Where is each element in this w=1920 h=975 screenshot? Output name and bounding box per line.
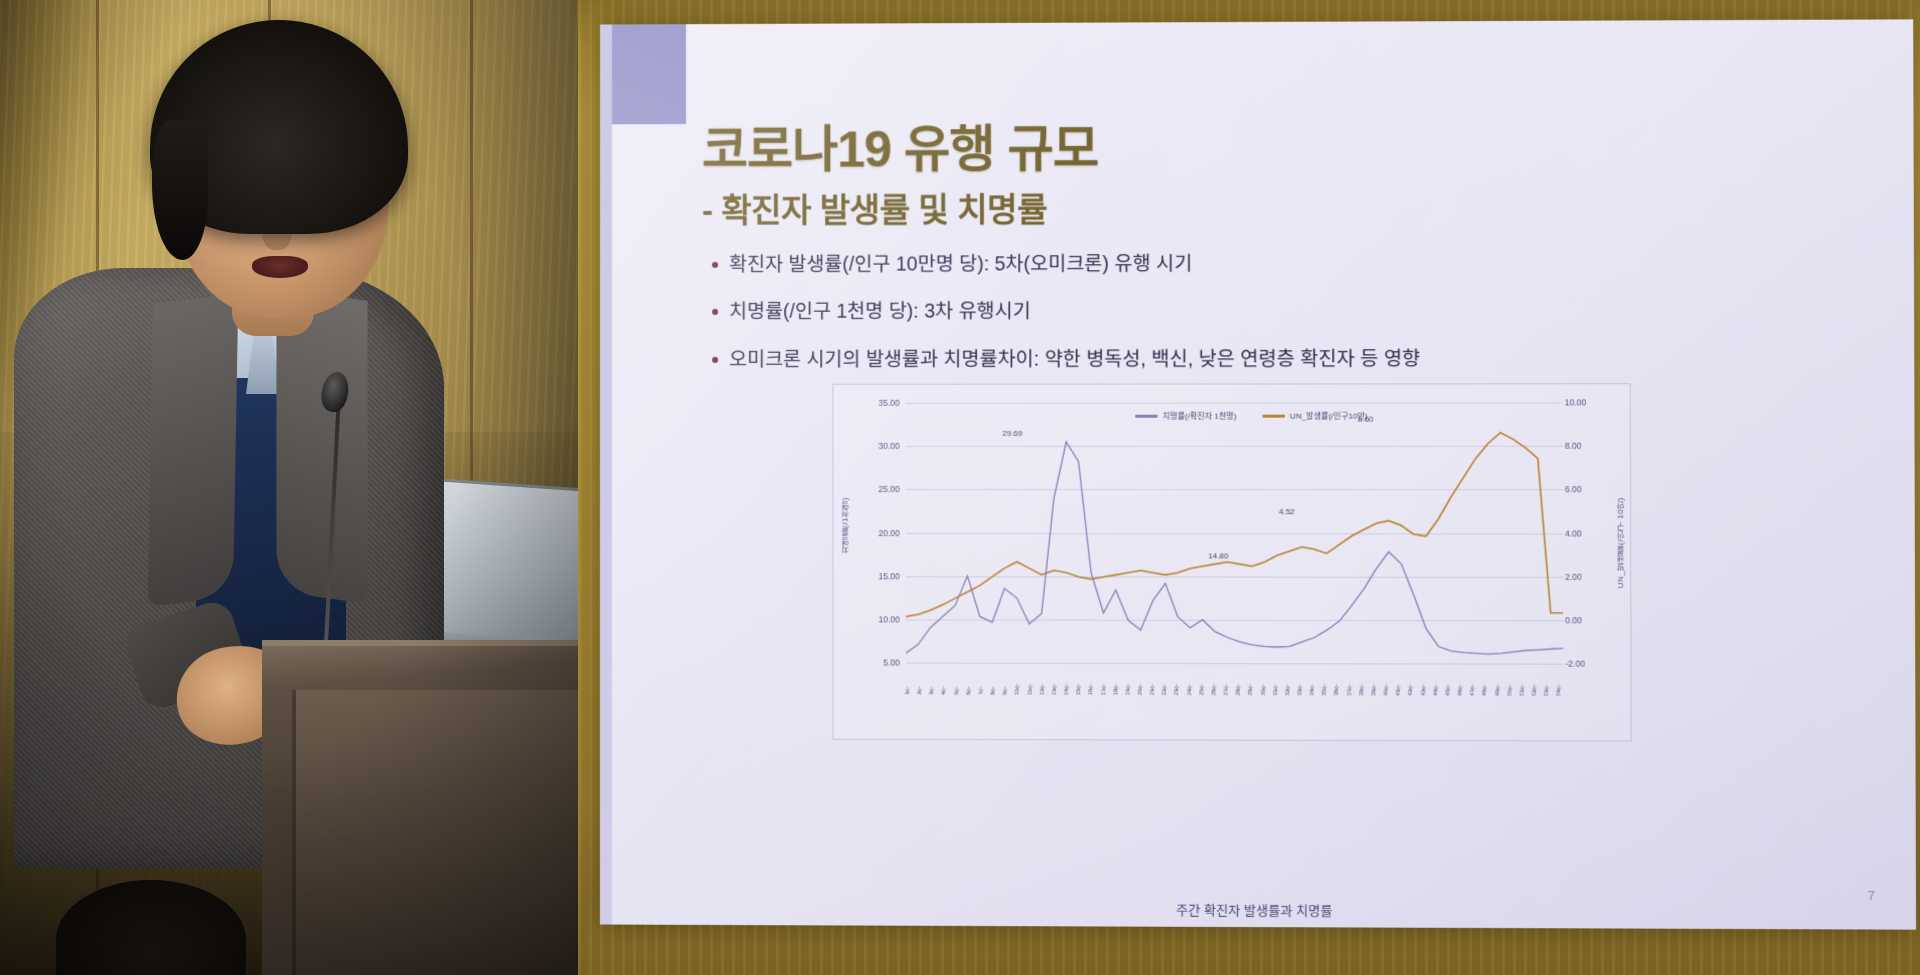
- x-tick-label: 21주: [1151, 659, 1156, 695]
- x-tick-label: 34주: [1311, 659, 1316, 695]
- bullet-dot-icon: [712, 357, 718, 363]
- bullet-item: 확진자 발생률(/인구 10만명 당): 5차(오미크론) 유행 시기: [712, 250, 1885, 279]
- y-tick-label: 25.00: [856, 484, 900, 494]
- x-tick-label: 6주: [967, 659, 972, 695]
- bullet-text: 치명률(/인구 1천명 당): 3차 유행시기: [729, 299, 1031, 326]
- x-tick-label: 28주: [1237, 659, 1242, 695]
- x-tick-label: 5주: [955, 659, 960, 695]
- slide-title: 코로나19 유행 규모: [702, 109, 1098, 182]
- chart-svg: [906, 402, 1564, 661]
- bullet-dot-icon: [712, 262, 718, 268]
- chart-y2-ticks: 10.008.006.004.002.000.00-2.00: [833, 384, 1629, 385]
- x-tick-label: 47주: [1471, 659, 1476, 695]
- bullet-item: 치명률(/인구 1천명 당): 3차 유행시기: [712, 297, 1885, 325]
- x-tick-label: 37주: [1348, 659, 1353, 695]
- y2-tick-label: 4.00: [1565, 528, 1610, 538]
- slide-subtitle: - 확진자 발생률 및 치명률: [702, 183, 1047, 232]
- x-tick-label: 50주: [1508, 660, 1513, 696]
- x-tick-label: 38주: [1360, 659, 1365, 695]
- x-tick-label: 45주: [1446, 659, 1451, 695]
- x-tick-label: 54주: [1557, 660, 1562, 696]
- x-tick-label: 4주: [943, 659, 948, 695]
- x-tick-label: 25주: [1200, 659, 1205, 695]
- chart-caption: 주간 확진자 발생률과 치명률: [600, 897, 1916, 921]
- y2-tick-label: 2.00: [1565, 571, 1610, 581]
- y2-tick-label: 10.00: [1565, 397, 1610, 407]
- x-tick-label: 23주: [1175, 659, 1180, 695]
- chart-y-axis-label: 치명률(/1천명): [839, 497, 850, 554]
- x-tick-label: 39주: [1372, 659, 1377, 695]
- bullet-text: 오미크론 시기의 발생률과 치명률차이: 약한 병독성, 백신, 낮은 연령층 …: [729, 346, 1420, 373]
- x-tick-label: 8주: [992, 659, 997, 695]
- x-tick-label: 27주: [1225, 659, 1230, 695]
- x-tick-label: 3주: [930, 659, 935, 695]
- data-point-label: 4.52: [1279, 507, 1295, 516]
- series-line-fatality: [906, 442, 1564, 655]
- y-tick-label: 30.00: [855, 441, 899, 451]
- x-tick-label: 53주: [1545, 660, 1550, 696]
- slide-left-accent-bar: [600, 24, 612, 924]
- x-tick-label: 13주: [1053, 659, 1058, 695]
- x-tick-label: 10주: [1016, 659, 1021, 695]
- chart-plot-area: [906, 402, 1564, 661]
- x-tick-label: 26주: [1212, 659, 1217, 695]
- screenshot-root: 코로나19 유행 규모 - 확진자 발생률 및 치명률 확진자 발생률(/인구 …: [0, 0, 1920, 975]
- chart-container: 치명률(/1천명) UN_발생률(/인구 10만) 35.0030.0025.0…: [832, 383, 1631, 741]
- x-tick-label: 43주: [1422, 659, 1427, 695]
- y-tick-label: 5.00: [856, 657, 900, 667]
- data-point-label: 29.69: [1002, 429, 1022, 438]
- bullet-dot-icon: [712, 309, 718, 315]
- data-point-label: 14.80: [1208, 551, 1228, 560]
- x-tick-label: 31주: [1274, 659, 1279, 695]
- x-tick-label: 19주: [1126, 659, 1131, 695]
- x-tick-label: 35주: [1323, 659, 1328, 695]
- x-tick-label: 24주: [1188, 659, 1193, 695]
- y-tick-label: 15.00: [856, 571, 900, 581]
- x-tick-label: 14주: [1065, 659, 1070, 695]
- chart-y2-axis-label: UN_발생률(/인구 10만): [1615, 497, 1626, 588]
- x-tick-label: 11주: [1028, 659, 1033, 695]
- x-tick-label: 29주: [1249, 659, 1254, 695]
- x-tick-label: 16주: [1090, 659, 1095, 695]
- slide-bullet-list: 확진자 발생률(/인구 10만명 당): 5차(오미크론) 유행 시기 치명률(…: [712, 250, 1886, 394]
- presenter-photo: [0, 0, 578, 975]
- x-tick-label: 40주: [1385, 659, 1390, 695]
- x-tick-label: 46주: [1459, 659, 1464, 695]
- x-tick-label: 33주: [1298, 659, 1303, 695]
- x-tick-label: 41주: [1397, 659, 1402, 695]
- x-tick-label: 15주: [1077, 659, 1082, 695]
- slide-page-number: 7: [1868, 888, 1875, 903]
- x-tick-label: 1주: [906, 659, 911, 695]
- x-tick-label: 9주: [1004, 659, 1009, 695]
- y-tick-label: 10.00: [856, 614, 900, 624]
- speaker-mouth: [252, 256, 308, 278]
- x-tick-label: 48주: [1483, 660, 1488, 696]
- x-tick-label: 2주: [918, 659, 923, 695]
- x-tick-label: 22주: [1163, 659, 1168, 695]
- x-tick-label: 42주: [1409, 659, 1414, 695]
- slide-accent-block: [612, 20, 686, 124]
- bullet-text: 확진자 발생률(/인구 10만명 당): 5차(오미크론) 유행 시기: [729, 251, 1192, 278]
- x-tick-label: 12주: [1040, 659, 1045, 695]
- y-tick-label: 35.00: [855, 398, 899, 408]
- y2-tick-label: 6.00: [1565, 484, 1610, 494]
- bullet-item: 오미크론 시기의 발생률과 치명률차이: 약한 병독성, 백신, 낮은 연령층 …: [712, 345, 1886, 373]
- x-tick-label: 30주: [1261, 659, 1266, 695]
- x-tick-label: 44주: [1434, 659, 1439, 695]
- chart-x-tick-labels: 1주2주3주4주5주6주7주8주9주10주11주12주13주14주15주16주1…: [906, 659, 1563, 696]
- y2-tick-label: 0.00: [1565, 615, 1610, 625]
- x-tick-label: 7주: [979, 659, 984, 695]
- presentation-slide: 코로나19 유행 규모 - 확진자 발생률 및 치명률 확진자 발생률(/인구 …: [600, 19, 1916, 929]
- y2-tick-label: 8.00: [1565, 441, 1610, 451]
- y2-tick-label: -2.00: [1565, 659, 1610, 669]
- jacket-lapel-left: [148, 293, 239, 606]
- x-tick-label: 36주: [1335, 659, 1340, 695]
- x-tick-label: 52주: [1533, 660, 1538, 696]
- x-tick-label: 32주: [1286, 659, 1291, 695]
- podium-front-panel: [292, 690, 578, 975]
- data-point-label: 8.60: [1358, 415, 1374, 424]
- x-tick-label: 20주: [1139, 659, 1144, 695]
- x-tick-label: 51주: [1520, 660, 1525, 696]
- y-tick-label: 20.00: [856, 528, 900, 538]
- x-tick-label: 49주: [1496, 660, 1501, 696]
- x-tick-label: 17주: [1102, 659, 1107, 695]
- chart-gridlines: [833, 384, 1629, 385]
- x-tick-label: 18주: [1114, 659, 1119, 695]
- chart-inner: 치명률(/1천명) UN_발생률(/인구 10만) 35.0030.0025.0…: [833, 384, 1630, 740]
- projection-wall: 코로나19 유행 규모 - 확진자 발생률 및 치명률 확진자 발생률(/인구 …: [578, 0, 1920, 975]
- chart-annotations: 29.698.604.5214.80: [833, 384, 1629, 385]
- chart-y-ticks: 35.0030.0025.0020.0015.0010.005.00: [833, 384, 1629, 385]
